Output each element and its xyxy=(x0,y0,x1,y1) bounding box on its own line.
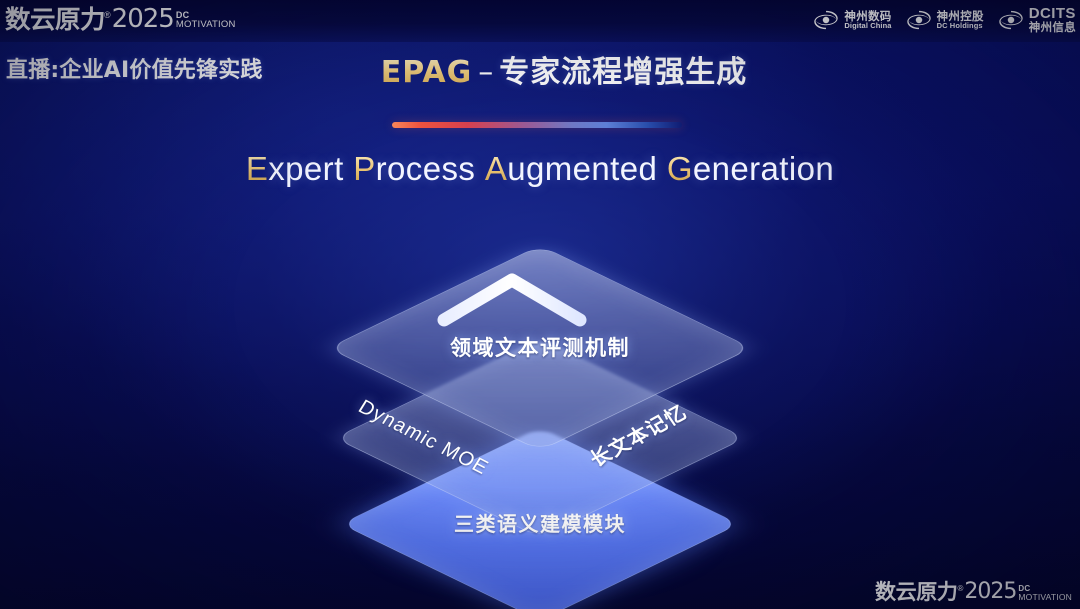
subtitle-rest-generation: eneration xyxy=(693,150,834,187)
subtitle-cap-g: G xyxy=(667,150,693,187)
subtitle-rest-expert: xpert xyxy=(268,150,343,187)
subtitle-space-1 xyxy=(344,150,354,187)
swirl-icon xyxy=(906,8,932,32)
brand-logo-year: 2025 xyxy=(112,6,174,32)
subtitle-space-3 xyxy=(657,150,667,187)
partner-name-en: DC Holdings xyxy=(937,22,984,30)
watermark-chinese: 数云原力 xyxy=(875,582,957,603)
swirl-icon xyxy=(813,8,839,32)
partner-text-dcits: DCITS 神州信息 xyxy=(1029,6,1076,33)
watermark-registered-mark: ® xyxy=(957,584,963,593)
partner-text-digital-china: 神州数码 Digital China xyxy=(844,10,891,30)
partner-text-dc-holdings: 神州控股 DC Holdings xyxy=(937,10,984,30)
partner-name-en: Digital China xyxy=(844,22,891,30)
subtitle-rest-augmented: ugmented xyxy=(507,150,657,187)
watermark-motivation: MOTIVATION xyxy=(1018,593,1072,602)
watermark-dc-motivation: DC MOTIVATION xyxy=(1018,585,1072,602)
partner-logo-dc-holdings: 神州控股 DC Holdings xyxy=(906,5,984,35)
subtitle-rest-process: rocess xyxy=(376,150,476,187)
swirl-icon xyxy=(998,8,1024,32)
brand-logo-chinese: 数云原力 xyxy=(5,7,105,32)
subtitle-cap-e: E xyxy=(246,150,268,187)
brand-logo-registered-mark: ® xyxy=(104,11,111,20)
partner-logo-digital-china: 神州数码 Digital China xyxy=(813,5,891,35)
headline-acronym: EPAG xyxy=(381,55,473,90)
brand-logo-dc-motivation: DC MOTIVATION xyxy=(176,11,236,30)
gradient-divider xyxy=(392,122,682,128)
page-subtitle: Expert Process Augmented Generation xyxy=(0,150,1080,188)
subtitle-cap-a: A xyxy=(485,150,507,187)
slide-root: 数云原力 ® 2025 DC MOTIVATION 直播:企业AI价值先锋实践 … xyxy=(0,0,1080,609)
partner-logo-group: 神州数码 Digital China 神州控股 DC Holdings xyxy=(813,4,1076,36)
page-title: EPAG–专家流程增强生成 xyxy=(0,54,1080,92)
stack-caption-bottom: 三类语义建模模块 xyxy=(0,508,1080,537)
watermark-logo: 数云原力 ® 2025 DC MOTIVATION xyxy=(875,581,1072,603)
subtitle-space-2 xyxy=(475,150,485,187)
partner-name-cn: 神州信息 xyxy=(1029,21,1076,33)
subtitle-cap-p: P xyxy=(353,150,375,187)
brand-logo: 数云原力 ® 2025 DC MOTIVATION xyxy=(6,2,236,32)
stack-caption-top: 领域文本评测机制 xyxy=(0,332,1080,362)
partner-logo-dcits: DCITS 神州信息 xyxy=(998,5,1076,35)
headline-chinese: 专家流程增强生成 xyxy=(499,55,747,90)
partner-name-en: DCITS xyxy=(1029,6,1076,21)
brand-logo-motivation: MOTIVATION xyxy=(176,20,236,30)
watermark-year: 2025 xyxy=(964,581,1016,603)
headline-dash: – xyxy=(478,55,493,90)
